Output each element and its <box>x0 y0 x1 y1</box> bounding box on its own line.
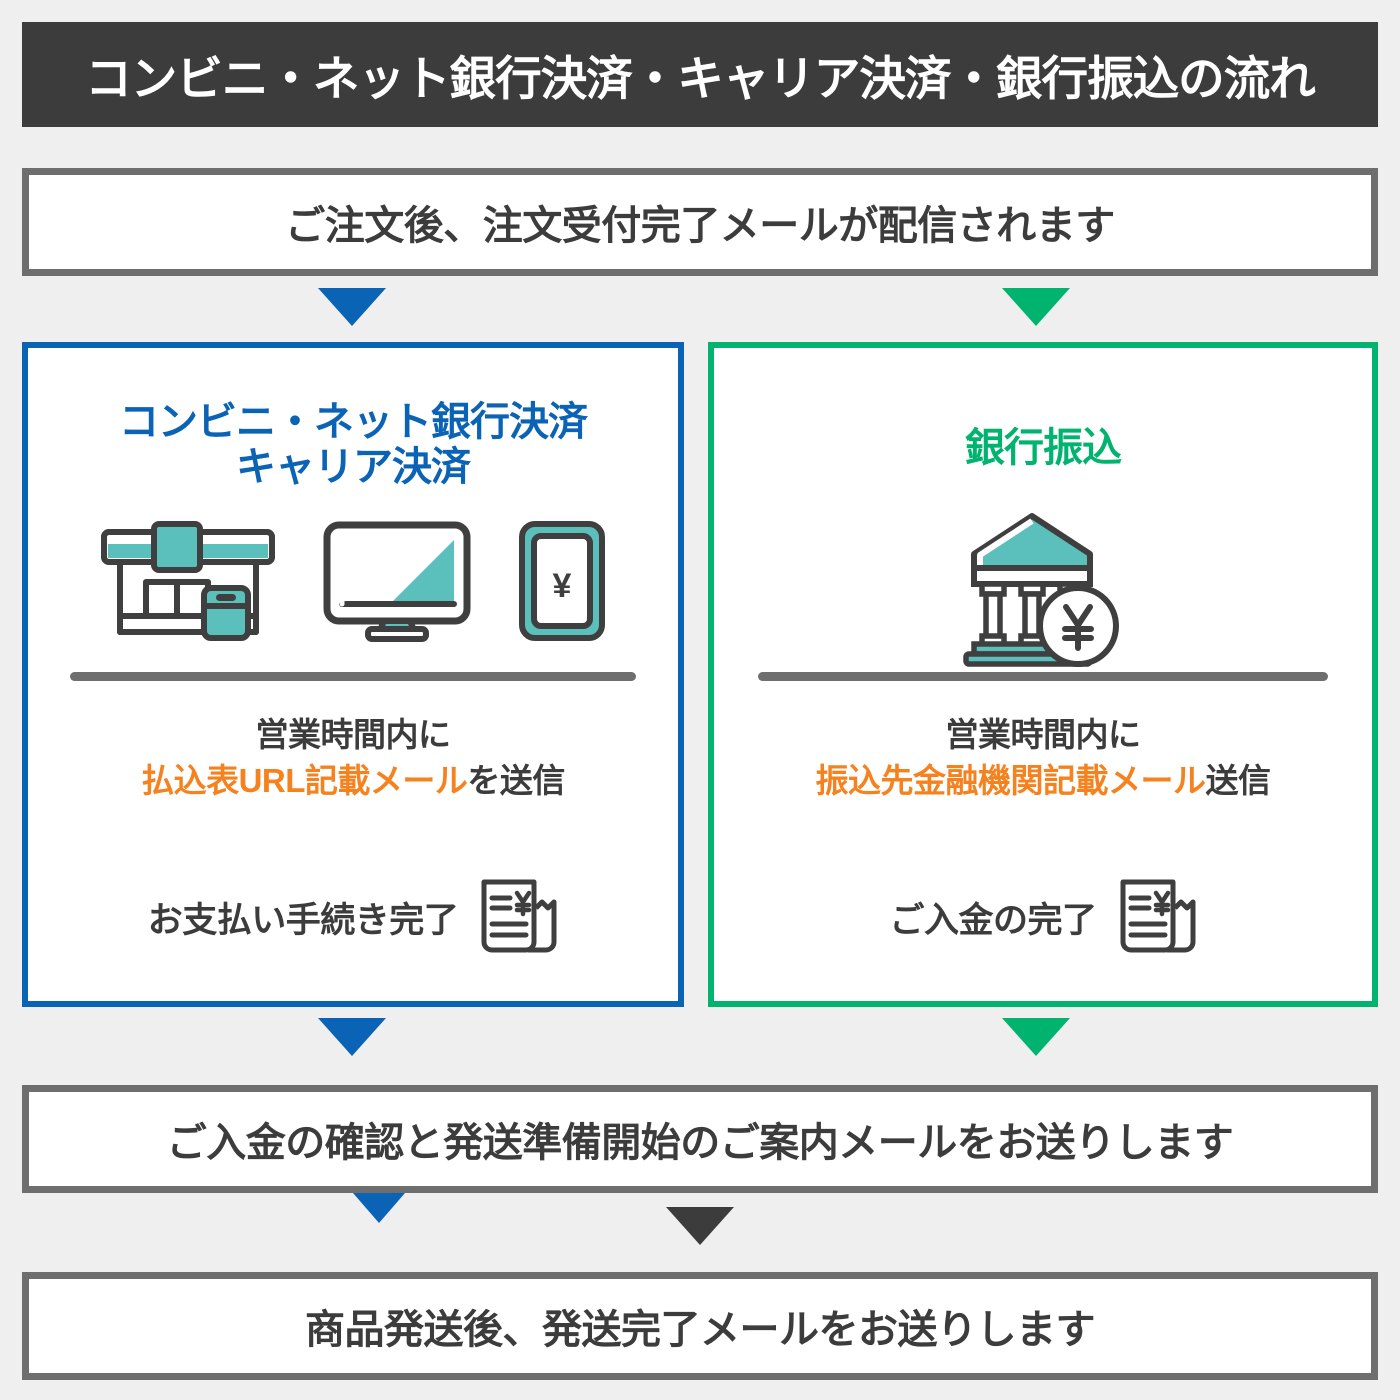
store-vending-unit <box>204 588 248 638</box>
step-shipped-label: 商品発送後、発送完了メールをお送りします <box>305 1297 1095 1355</box>
arrow-down-icon-top-left <box>318 288 386 326</box>
receipt-yen-icon <box>1111 874 1197 960</box>
bank-note-line2: 振込先金融機関記載メール送信 <box>714 758 1372 804</box>
bank-icon-row <box>714 508 1372 670</box>
bank-note-suffix: 送信 <box>1206 762 1271 799</box>
step-order-confirmation: ご注文後、注文受付完了メールが配信されます <box>22 168 1378 276</box>
bank-done-row: ご入金の完了 <box>714 874 1372 960</box>
arrow-down-icon-bottom-right <box>1002 1018 1070 1056</box>
bank-building-yen-icon <box>956 508 1131 670</box>
panel-bank-title: 銀行振込 <box>714 426 1372 471</box>
convenience-divider <box>70 672 636 681</box>
receipt-yen-icon <box>472 874 558 960</box>
convenience-note-highlight: 払込表URL記載メール <box>141 762 467 799</box>
bank-note-highlight: 振込先金融機関記載メール <box>816 762 1206 799</box>
step-order-label: ご注文後、注文受付完了メールが配信されます <box>285 193 1115 251</box>
smartphone-yen-icon: ¥ <box>516 520 608 642</box>
payment-flow-diagram: コンビニ・ネット銀行決済・キャリア決済・銀行振込の流れ ご注文後、注文受付完了メ… <box>0 0 1400 1400</box>
bank-done-label: ご入金の完了 <box>889 892 1096 943</box>
panel-convenience-title: コンビニ・ネット銀行決済 キャリア決済 <box>28 400 678 490</box>
panel-convenience-title-line1: コンビニ・ネット銀行決済 <box>28 400 678 445</box>
convenience-note-suffix: を送信 <box>467 762 565 799</box>
page-title: コンビニ・ネット銀行決済・キャリア決済・銀行振込の流れ <box>85 40 1315 109</box>
step-shipping-complete: 商品発送後、発送完了メールをお送りします <box>22 1272 1378 1380</box>
convenience-note-line1: 営業時間内に <box>28 712 678 758</box>
arrow-down-icon-convenience <box>353 1193 405 1223</box>
panel-convenience-payment: コンビニ・ネット銀行決済 キャリア決済 <box>22 342 684 1007</box>
panel-bank-transfer: 銀行振込 <box>708 342 1378 1007</box>
convenience-note: 営業時間内に 払込表URL記載メールを送信 <box>28 712 678 803</box>
panel-convenience-title-line2: キャリア決済 <box>28 445 678 490</box>
bank-note-line1: 営業時間内に <box>714 712 1372 758</box>
step-payment-confirmed: ご入金の確認と発送準備開始のご案内メールをお送りします <box>22 1085 1378 1193</box>
svg-text:¥: ¥ <box>553 567 572 605</box>
arrow-down-icon-final <box>666 1207 734 1245</box>
bank-divider <box>758 672 1328 681</box>
convenience-store-icon <box>98 520 278 642</box>
bank-note: 営業時間内に 振込先金融機関記載メール送信 <box>714 712 1372 803</box>
diagram-header: コンビニ・ネット銀行決済・キャリア決済・銀行振込の流れ <box>22 22 1378 127</box>
convenience-note-line2: 払込表URL記載メールを送信 <box>28 758 678 804</box>
arrow-down-icon-top-right <box>1002 288 1070 326</box>
convenience-done-row: お支払い手続き完了 <box>28 874 678 960</box>
desktop-monitor-icon <box>322 520 472 642</box>
step-confirm-label: ご入金の確認と発送準備開始のご案内メールをお送りします <box>167 1110 1234 1168</box>
convenience-done-label: お支払い手続き完了 <box>148 892 459 943</box>
convenience-icon-row: ¥ <box>28 520 678 642</box>
arrow-down-icon-bottom-left <box>318 1018 386 1056</box>
